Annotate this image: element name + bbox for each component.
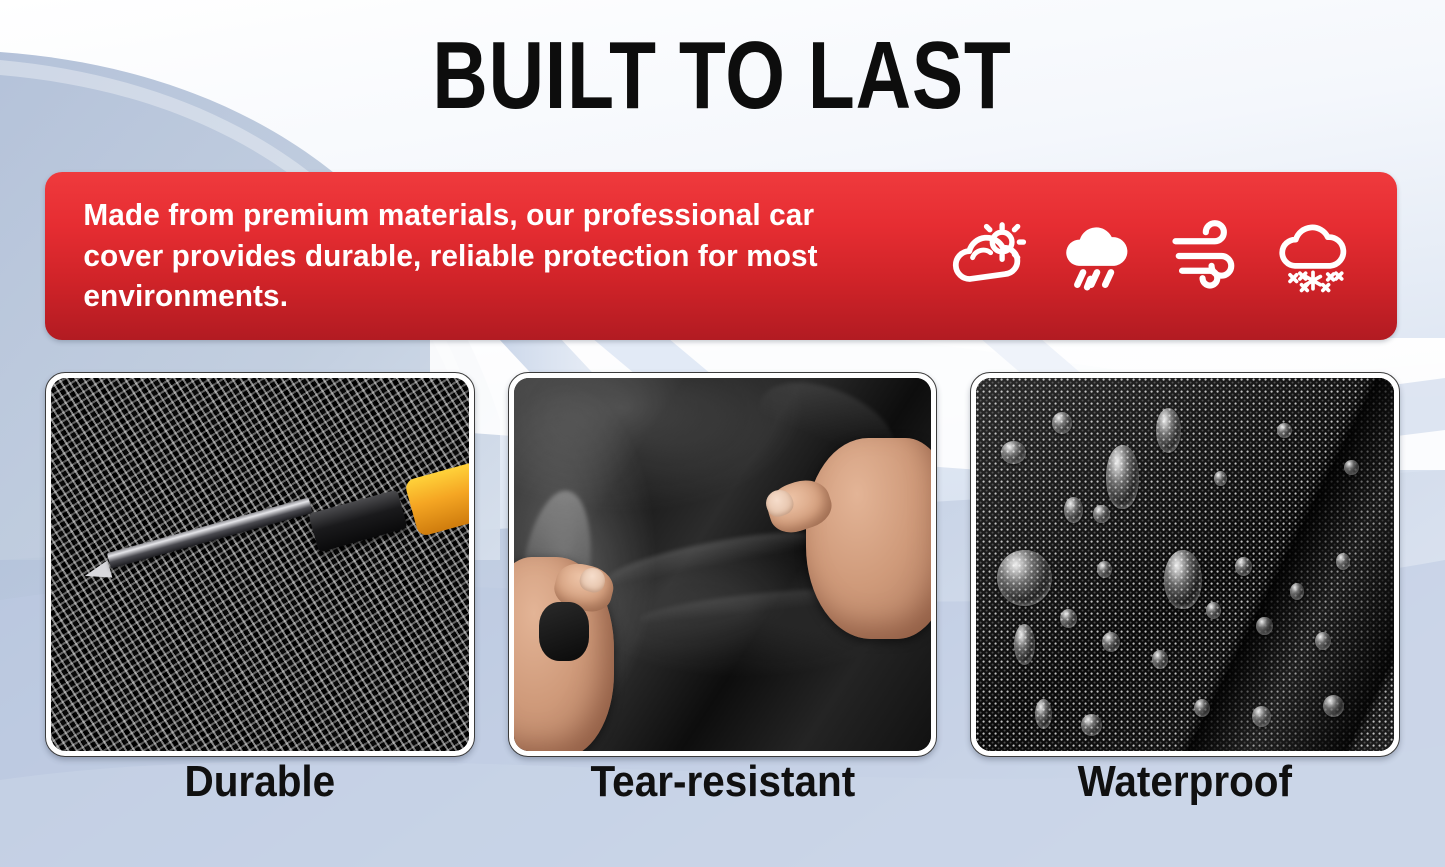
water-droplet (1060, 609, 1077, 628)
water-droplet (1052, 412, 1073, 434)
water-droplet (1156, 408, 1181, 453)
caption-tear-resistant: Tear-resistant (525, 760, 920, 840)
description-banner: Made from premium materials, our profess… (45, 172, 1397, 340)
weather-icon-row (925, 215, 1397, 297)
water-droplet (1214, 471, 1227, 486)
water-droplet (1290, 583, 1305, 600)
wind-icon (1164, 215, 1246, 297)
feature-panel-waterproof[interactable] (970, 372, 1400, 757)
banner-description-text: Made from premium materials, our profess… (45, 195, 890, 318)
snow-cloud-icon (1272, 215, 1354, 297)
water-droplet (1014, 624, 1035, 665)
water-droplet (1252, 706, 1271, 727)
page-title: BUILT TO LAST (433, 28, 1012, 124)
water-droplet (1256, 617, 1273, 636)
tear-resistant-stretch-photo (514, 378, 932, 751)
water-droplet (1097, 561, 1112, 578)
water-droplet (997, 550, 1051, 606)
water-droplet (1277, 423, 1292, 438)
left-gripped-fabric (539, 602, 589, 662)
rain-cloud-icon (1056, 215, 1138, 297)
waterproof-beading-photo (976, 378, 1394, 751)
water-droplet (1235, 557, 1252, 576)
water-droplet (1081, 714, 1102, 736)
right-hand (806, 438, 931, 639)
durable-fabric-screwdriver-photo (51, 378, 469, 751)
water-droplet (1164, 550, 1202, 610)
water-droplet (1344, 460, 1359, 475)
water-droplet (1336, 553, 1351, 570)
feature-panel-durable[interactable] (45, 372, 475, 757)
feature-panel-tear-resistant[interactable] (508, 372, 938, 757)
water-droplet (1106, 445, 1139, 508)
water-droplet (1206, 602, 1221, 619)
feature-photo-row (0, 372, 1445, 757)
caption-waterproof: Waterproof (988, 760, 1383, 840)
sun-cloud-icon (948, 215, 1030, 297)
water-droplet (1035, 699, 1052, 729)
feature-caption-row: Durable Tear-resistant Waterproof (0, 760, 1445, 840)
caption-durable: Durable (62, 760, 457, 840)
page-title-container: BUILT TO LAST (0, 28, 1445, 124)
